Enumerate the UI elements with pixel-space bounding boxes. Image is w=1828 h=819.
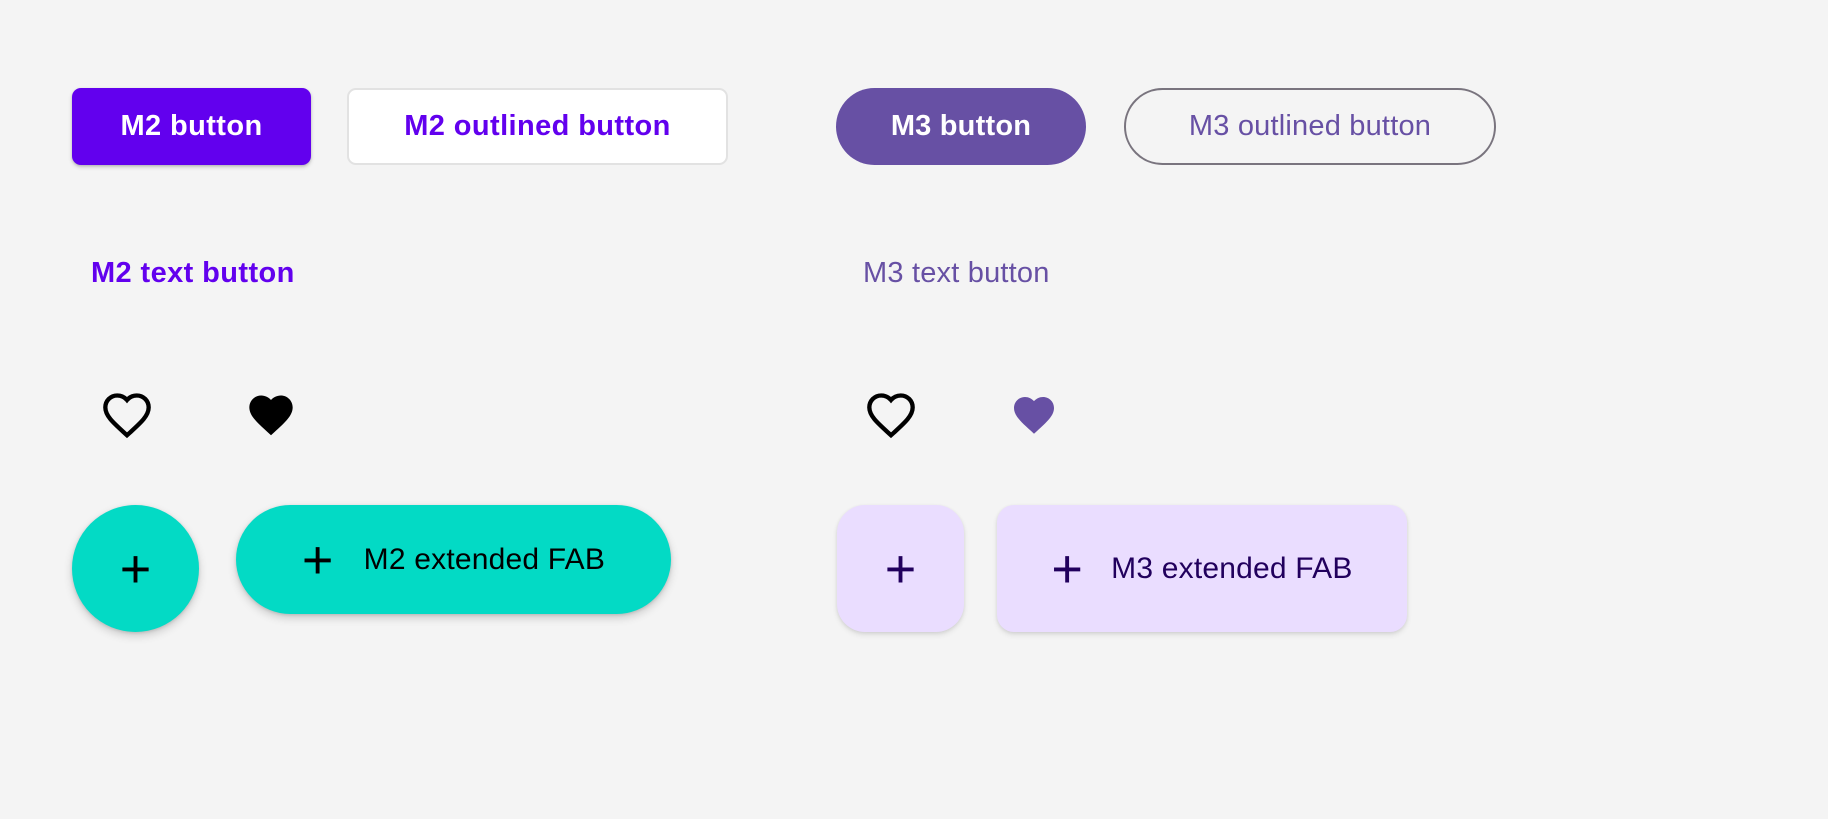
component-showcase-canvas: M2 button M2 outlined button M2 text but… <box>0 0 1828 819</box>
plus-icon: + <box>302 533 334 587</box>
m2-heart-outline-icon-button[interactable] <box>101 389 153 441</box>
m2-extended-fab[interactable]: + M2 extended FAB <box>236 505 671 614</box>
heart-outline-icon <box>101 389 153 441</box>
m3-outlined-button[interactable]: M3 outlined button <box>1124 88 1496 165</box>
m3-heart-outline-icon-button[interactable] <box>865 389 917 441</box>
heart-filled-icon <box>245 389 297 441</box>
heart-filled-icon <box>1010 391 1058 439</box>
m3-extended-fab-label: M3 extended FAB <box>1111 554 1352 584</box>
m3-fab[interactable]: + <box>837 505 964 632</box>
m2-outlined-button[interactable]: M2 outlined button <box>347 88 728 165</box>
plus-icon: + <box>885 542 917 596</box>
m3-text-button[interactable]: M3 text button <box>863 251 1163 295</box>
m2-fab[interactable]: + <box>72 505 199 632</box>
heart-outline-icon <box>865 389 917 441</box>
m3-heart-filled-icon-button[interactable] <box>1010 391 1058 439</box>
m2-extended-fab-label: M2 extended FAB <box>364 545 605 575</box>
m3-extended-fab[interactable]: + M3 extended FAB <box>997 505 1407 632</box>
m2-heart-filled-icon-button[interactable] <box>245 389 297 441</box>
plus-icon: + <box>120 542 152 596</box>
m2-text-button[interactable]: M2 text button <box>91 251 391 295</box>
m3-filled-button[interactable]: M3 button <box>836 88 1086 165</box>
plus-icon: + <box>1051 542 1083 596</box>
m2-filled-button[interactable]: M2 button <box>72 88 311 165</box>
